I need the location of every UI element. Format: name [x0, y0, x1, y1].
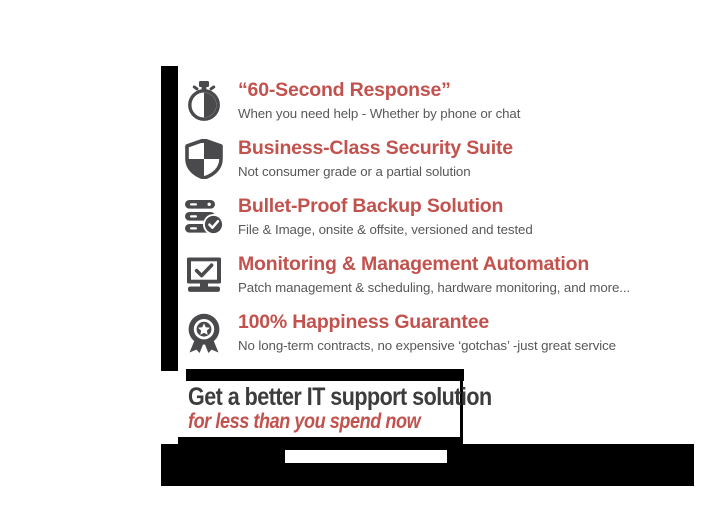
slide-canvas: “60-Second Response” When you need help …: [0, 0, 713, 527]
feature-subtitle: No long-term contracts, no expensive ‘go…: [238, 336, 616, 355]
feature-subtitle: When you need help - Whether by phone or…: [238, 104, 520, 123]
feature-item-guarantee: 100% Happiness Guarantee No long-term co…: [182, 310, 712, 355]
server-backup-icon: [182, 195, 226, 239]
feature-title: Monitoring & Management Automation: [238, 253, 630, 276]
feature-title: Business-Class Security Suite: [238, 137, 513, 160]
feature-text: Business-Class Security Suite Not consum…: [226, 136, 513, 181]
feature-item-monitoring: Monitoring & Management Automation Patch…: [182, 252, 712, 297]
cta-headline: Get a better IT support solution: [188, 383, 492, 411]
feature-text: “60-Second Response” When you need help …: [226, 78, 520, 123]
feature-item-backup: Bullet-Proof Backup Solution File & Imag…: [182, 194, 712, 239]
feature-list: “60-Second Response” When you need help …: [182, 78, 712, 368]
monitor-check-icon: [182, 253, 226, 297]
feature-title: 100% Happiness Guarantee: [238, 311, 616, 334]
feature-subtitle: Not consumer grade or a partial solution: [238, 162, 513, 181]
feature-item-response: “60-Second Response” When you need help …: [182, 78, 712, 123]
bottom-band-white-strip: [285, 450, 447, 463]
cta-box: Get a better IT support solution for les…: [178, 381, 463, 437]
bottom-black-band: [161, 444, 694, 486]
award-ribbon-icon: [182, 311, 226, 355]
feature-subtitle: Patch management & scheduling, hardware …: [238, 278, 630, 297]
feature-text: Monitoring & Management Automation Patch…: [226, 252, 630, 297]
left-accent-stripe: [161, 66, 178, 371]
feature-item-security: Business-Class Security Suite Not consum…: [182, 136, 712, 181]
feature-text: 100% Happiness Guarantee No long-term co…: [226, 310, 616, 355]
feature-title: Bullet-Proof Backup Solution: [238, 195, 533, 218]
cta-subheadline: for less than you spend now: [188, 409, 420, 435]
feature-text: Bullet-Proof Backup Solution File & Imag…: [226, 194, 533, 239]
feature-subtitle: File & Image, onsite & offsite, versione…: [238, 220, 533, 239]
shield-icon: [182, 137, 226, 181]
feature-title: “60-Second Response”: [238, 79, 520, 102]
stopwatch-icon: [182, 79, 226, 123]
cta-top-bar: [186, 369, 464, 381]
